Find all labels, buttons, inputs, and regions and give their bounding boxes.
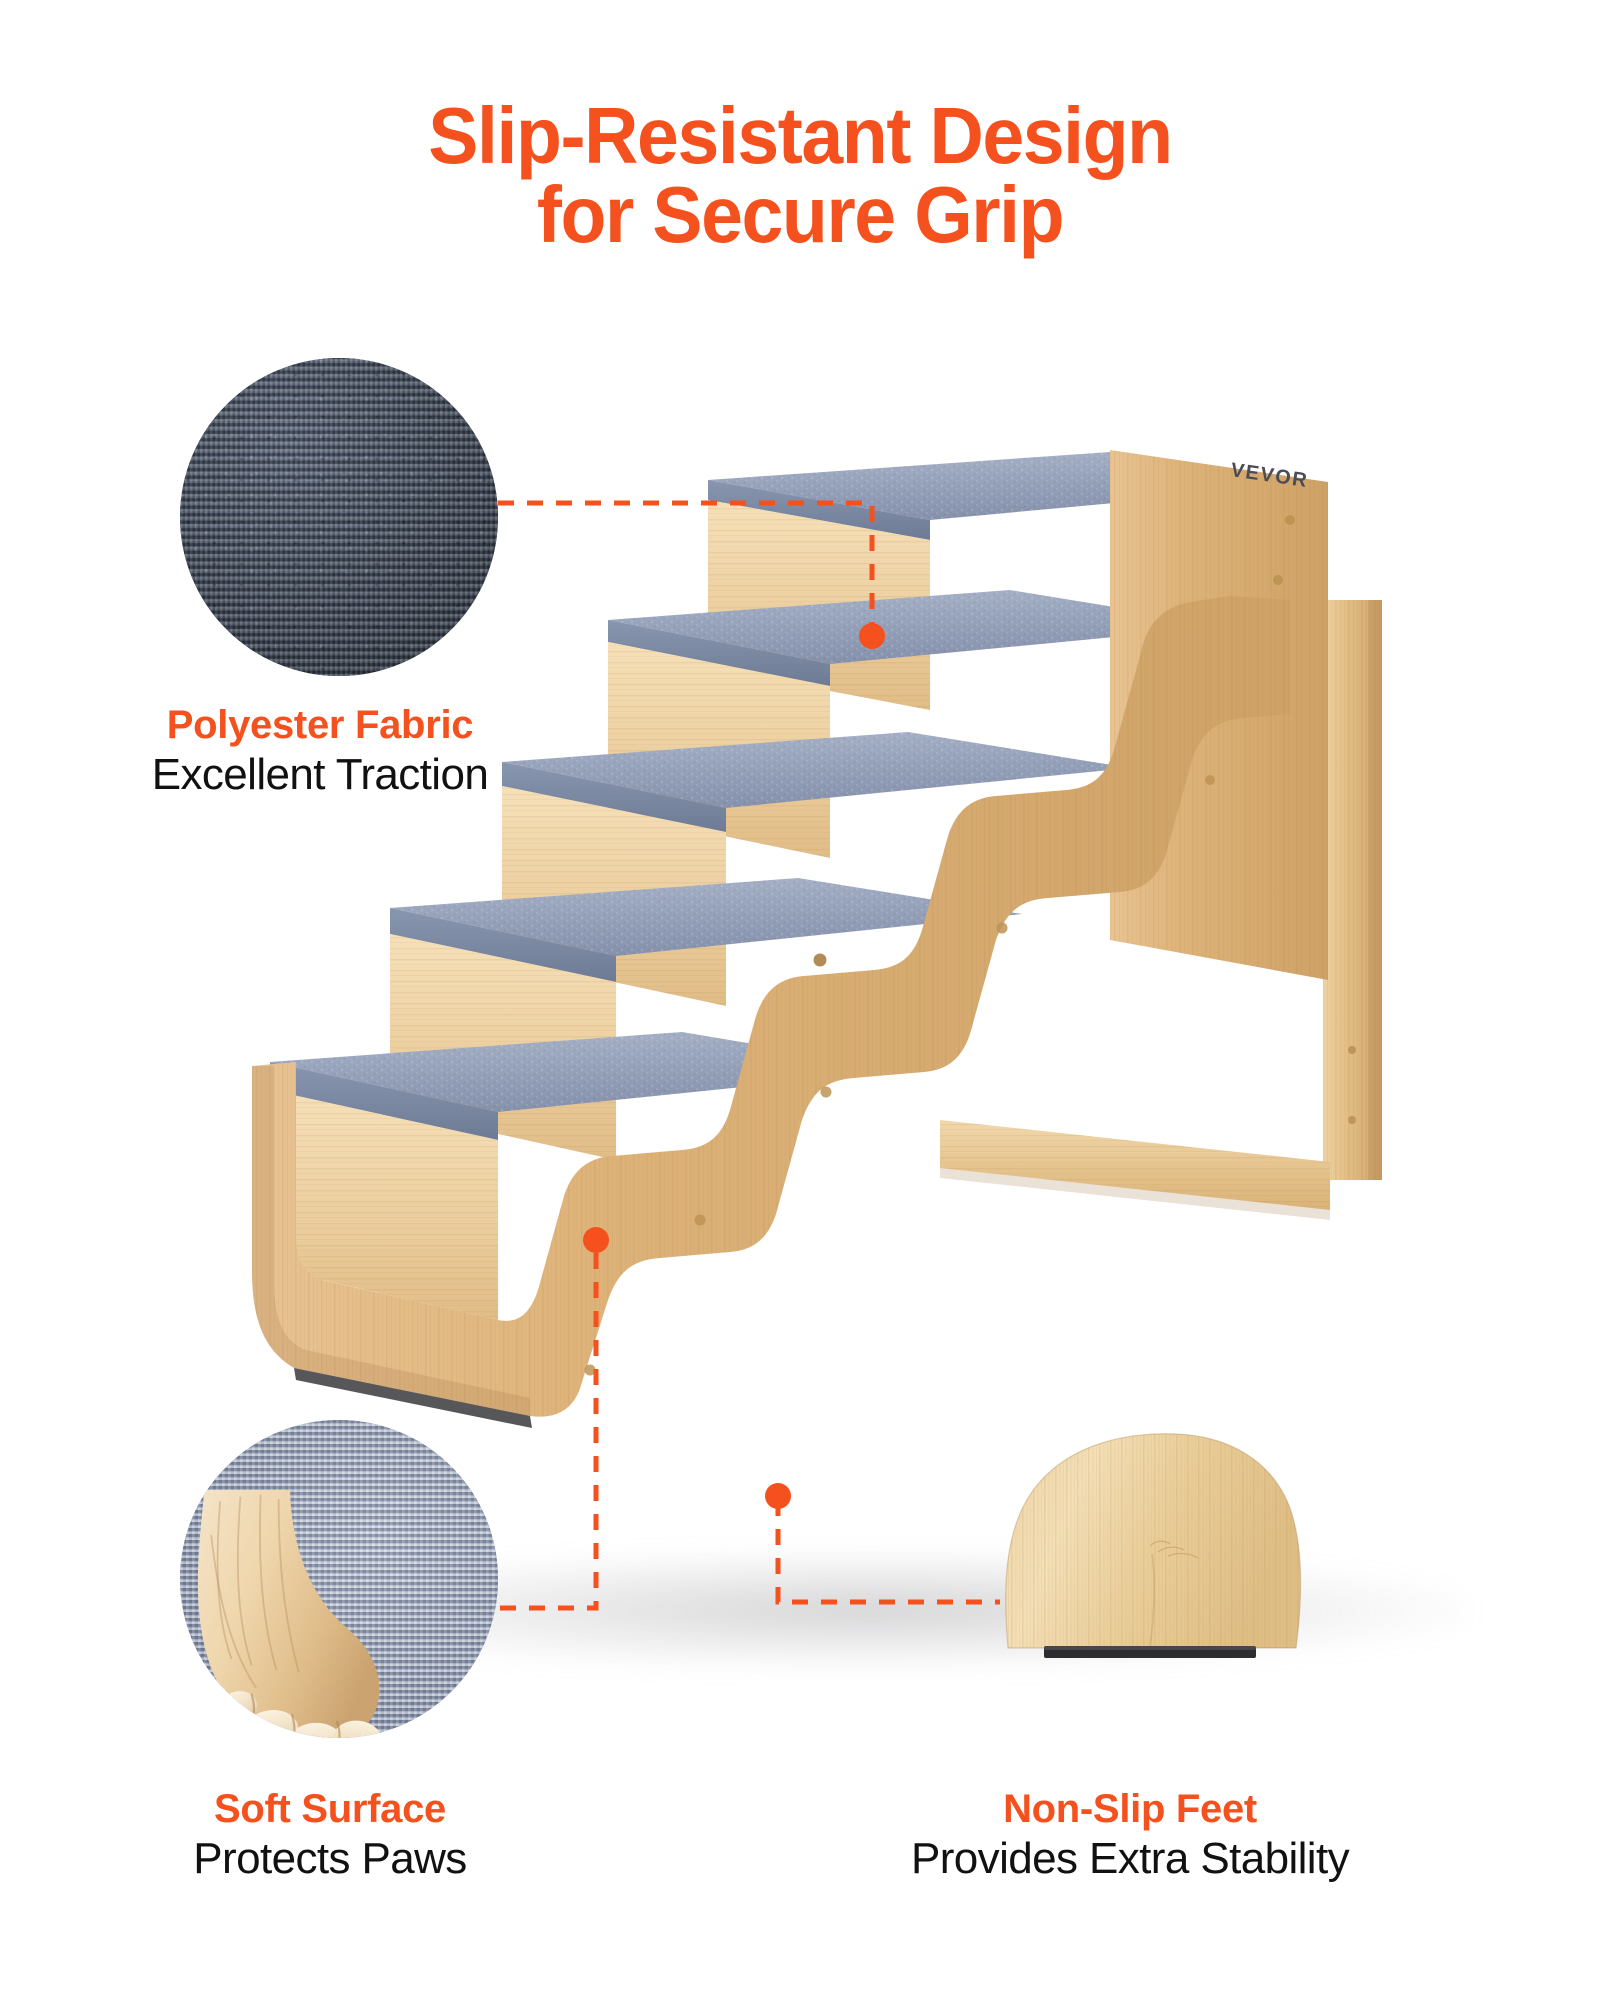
cross-brace <box>940 1120 1330 1220</box>
screw-hole <box>814 954 827 967</box>
callout-soft-surface: Soft Surface Protects Paws <box>70 1786 590 1886</box>
screw-hole <box>585 1365 596 1376</box>
rear-left-leg <box>830 1180 890 1350</box>
non-slip-foot-svg <box>1000 1430 1320 1660</box>
page-title: Slip-Resistant Design for Secure Grip <box>0 96 1600 254</box>
callout-headline: Non-Slip Feet <box>640 1786 1600 1833</box>
callout-polyester-fabric: Polyester Fabric Excellent Traction <box>60 702 580 802</box>
dog-paw-icon <box>180 1490 396 1738</box>
title-line-1: Slip-Resistant Design <box>48 96 1552 175</box>
screw-hole <box>821 1087 832 1098</box>
screw-hole <box>997 923 1008 934</box>
screw-hole <box>695 1215 706 1226</box>
title-line-2: for Secure Grip <box>48 175 1552 254</box>
callout-non-slip-feet: Non-Slip Feet Provides Extra Stability <box>640 1786 1600 1886</box>
callout-subline: Protects Paws <box>70 1833 590 1886</box>
infographic-page: Slip-Resistant Design for Secure Grip <box>0 0 1600 2000</box>
callout-headline: Soft Surface <box>70 1786 590 1833</box>
polyester-weave-texture <box>180 358 498 676</box>
callout-subline: Excellent Traction <box>60 749 580 802</box>
detail-non-slip-foot <box>1000 1430 1320 1660</box>
callout-subline: Provides Extra Stability <box>640 1833 1600 1886</box>
callout-headline: Polyester Fabric <box>60 702 580 749</box>
detail-circle-polyester-fabric <box>180 358 498 676</box>
detail-circle-dog-paw <box>180 1420 498 1738</box>
